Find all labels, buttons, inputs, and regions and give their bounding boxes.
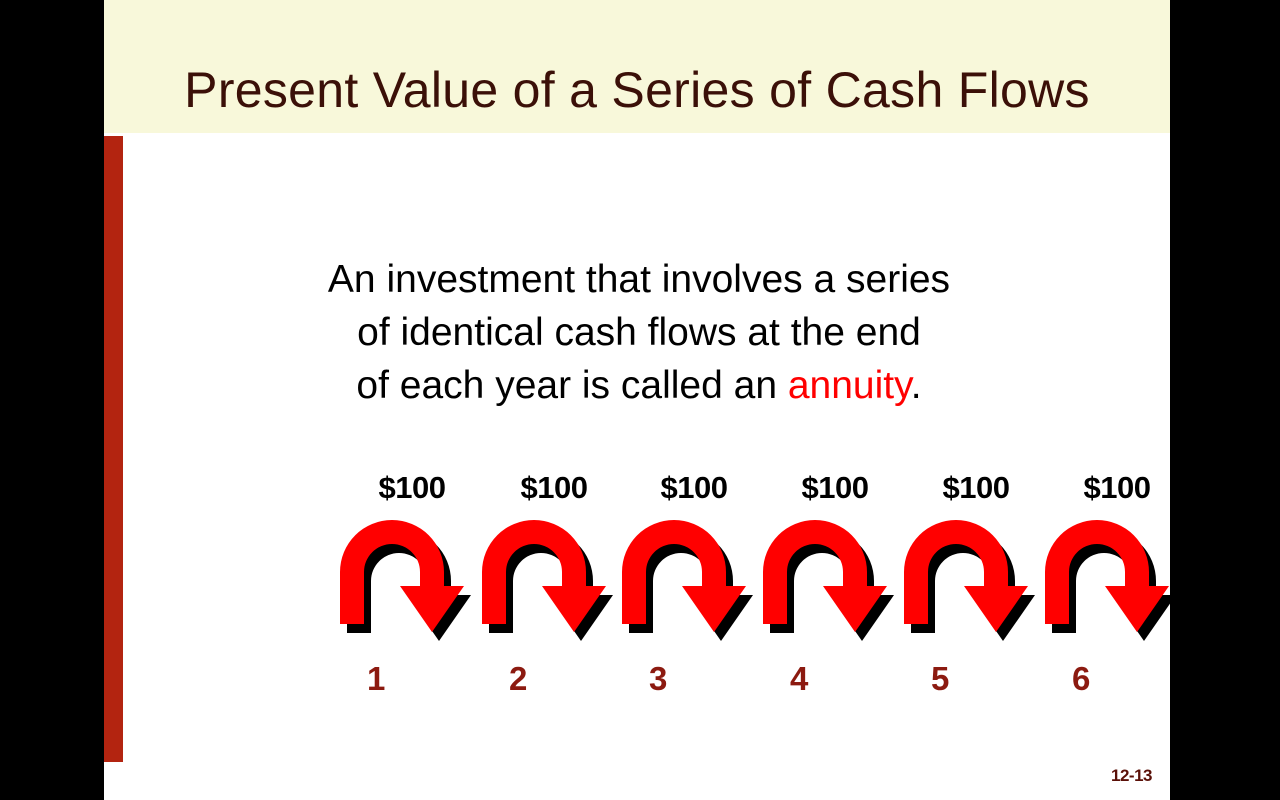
slide-body-text: An investment that involves a series of … (184, 253, 1094, 412)
cash-flow-amount-label: $100 (1037, 470, 1170, 506)
cash-flow-item: $100 3 (614, 470, 774, 700)
cash-flow-amount-label: $100 (896, 470, 1056, 506)
slide-number: 12-13 (1111, 766, 1152, 786)
cash-flow-amount-label: $100 (474, 470, 634, 506)
cash-flow-item: $100 2 (474, 470, 634, 700)
discount-arch-arrow-icon (614, 512, 774, 647)
discount-arch-arrow-icon (755, 512, 915, 647)
period-label: 6 (1072, 660, 1170, 698)
body-line-2: of identical cash flows at the end (184, 306, 1094, 359)
body-line-3-period: . (911, 364, 922, 407)
cash-flow-item: $100 6 (1037, 470, 1170, 700)
cash-flow-item: $100 5 (896, 470, 1056, 700)
presentation-stage: Present Value of a Series of Cash Flows … (0, 0, 1280, 800)
cash-flow-amount-label: $100 (755, 470, 915, 506)
body-line-1: An investment that involves a series (184, 253, 1094, 306)
discount-arch-arrow-icon (332, 512, 492, 647)
cash-flow-item: $100 4 (755, 470, 915, 700)
body-line-3: of each year is called an annuity. (184, 359, 1094, 412)
slide-title-band: Present Value of a Series of Cash Flows (104, 0, 1170, 133)
discount-arch-arrow-icon (1037, 512, 1170, 647)
discount-arch-arrow-icon (474, 512, 634, 647)
cash-flow-amount-label: $100 (332, 470, 492, 506)
discount-arch-arrow-icon (896, 512, 1056, 647)
slide-canvas: Present Value of a Series of Cash Flows … (104, 0, 1170, 800)
cash-flow-timeline-diagram: $100 1 $100 (104, 470, 1170, 700)
page-title: Present Value of a Series of Cash Flows (104, 62, 1170, 118)
cash-flow-amount-label: $100 (614, 470, 774, 506)
annuity-highlight: annuity (788, 364, 911, 407)
cash-flow-item: $100 1 (332, 470, 492, 700)
body-line-3-text: of each year is called an (356, 364, 787, 407)
